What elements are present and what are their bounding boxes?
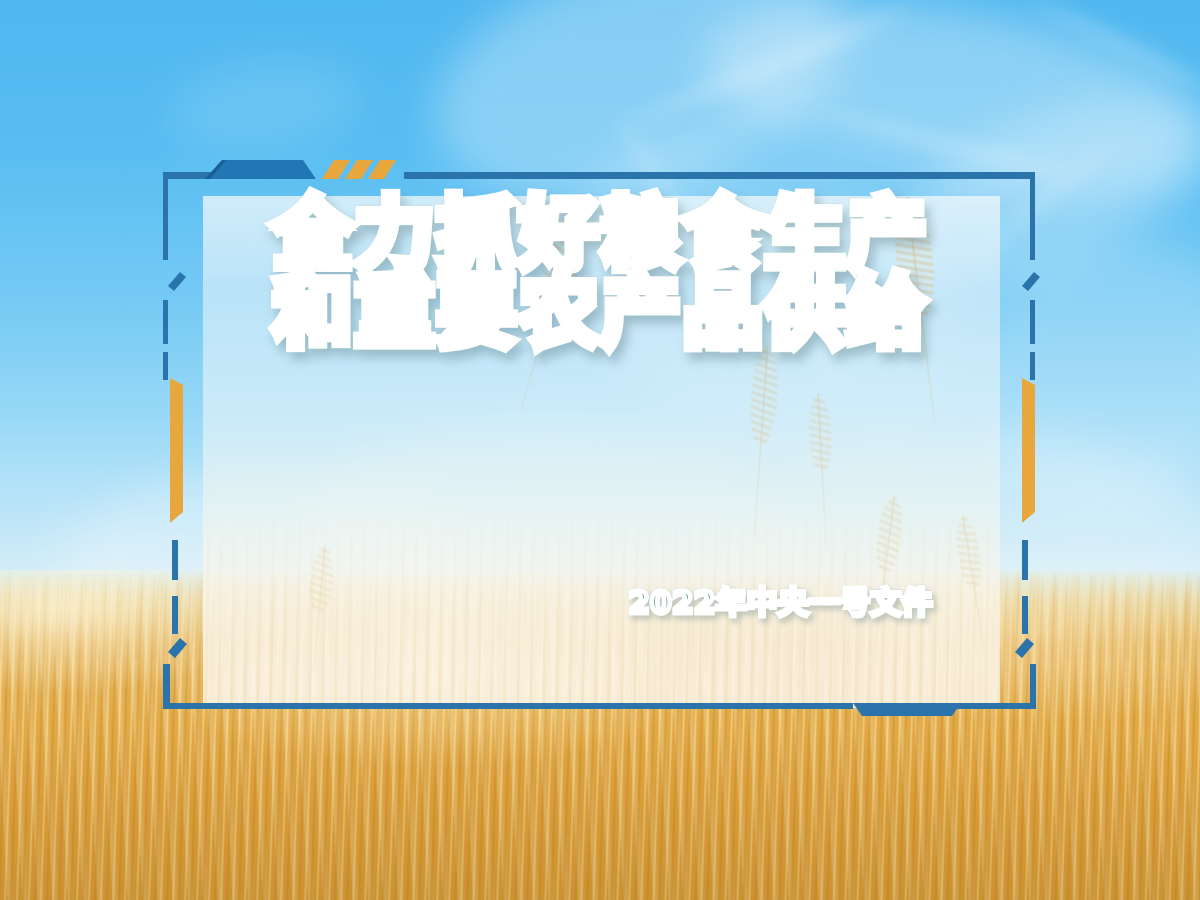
cloud-shape bbox=[165, 47, 366, 163]
field-shadow bbox=[0, 730, 1200, 900]
poster-canvas: 全力抓好粮食生产 和重要农产品供给 2022年中央一号文件 bbox=[0, 0, 1200, 900]
headline-line-1: 全力抓好粮食生产 bbox=[203, 196, 1000, 274]
cloud-wisp bbox=[823, 109, 1078, 182]
cloud-wisp bbox=[629, 4, 912, 128]
headline-line-2: 和重要农产品供给 bbox=[203, 274, 1000, 352]
title-block: 全力抓好粮食生产 和重要农产品供给 bbox=[203, 196, 1000, 352]
subtitle-text: 2022年中央一号文件 bbox=[203, 578, 933, 622]
cloud-wisp bbox=[1028, 0, 1200, 92]
